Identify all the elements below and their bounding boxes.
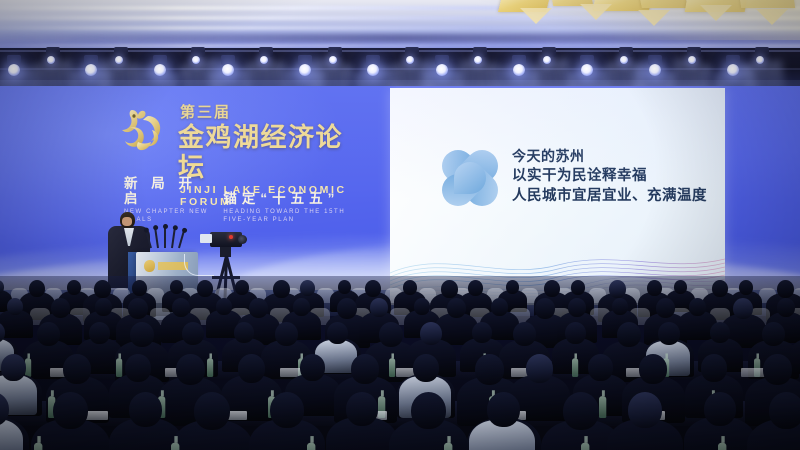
audience-person: [647, 280, 662, 296]
forum-edition-label: 第三届: [180, 104, 368, 121]
conference-hall-scene: 第三届 金鸡湖经济论坛 JINJI LAKE ECONOMIC FORUM 新 …: [0, 0, 800, 450]
slide-line-3: 人民城市宜居宜业、充满温度: [512, 186, 712, 206]
speaker-face: [122, 217, 132, 226]
audience-person: [379, 322, 403, 347]
audience-person: [689, 298, 706, 316]
audience-person: [125, 354, 151, 382]
golden-rooster-logo-icon: [118, 106, 172, 162]
audience-person: [563, 392, 599, 430]
audience-person: [487, 392, 520, 427]
audience-person: [674, 280, 687, 294]
water-bottle: [171, 443, 179, 450]
slide-line-1: 今天的苏州: [512, 146, 712, 166]
audience-person: [617, 322, 641, 347]
audience-person: [441, 280, 458, 298]
audience-person: [658, 322, 680, 345]
audience-person: [544, 280, 560, 297]
stage-light-icon: [115, 56, 123, 64]
audience-person: [628, 392, 662, 428]
audience-person: [777, 298, 795, 317]
audience-person: [1, 354, 26, 381]
audience-person: [447, 298, 466, 318]
audience-person: [182, 322, 204, 345]
seated-audience: [0, 276, 800, 450]
audience-person: [51, 298, 70, 318]
microphone-cluster: [148, 226, 182, 248]
audience-person: [216, 298, 232, 315]
audience-person: [170, 280, 183, 294]
audience-person: [337, 298, 357, 319]
audience-person: [235, 280, 249, 295]
audience-person: [420, 322, 442, 345]
stage-light-icon: [727, 64, 739, 76]
presentation-slide: 今天的苏州 以实干为民诠释幸福 人民城市宜居宜业、充满温度: [390, 88, 725, 305]
camera-lens-icon: [238, 235, 247, 244]
audience-person: [67, 280, 81, 295]
audience-person: [338, 280, 351, 294]
audience-person: [414, 298, 430, 315]
audience-person: [270, 392, 304, 428]
water-bottle: [718, 443, 726, 450]
audience-person: [712, 280, 728, 297]
audience-person: [89, 322, 110, 344]
lighting-truss: [0, 48, 800, 90]
audience-person: [293, 298, 310, 316]
audience-person: [197, 280, 213, 297]
audience-person: [7, 298, 23, 315]
forum-logo-block: 第三届 金鸡湖经济论坛 JINJI LAKE ECONOMIC FORUM 新 …: [118, 104, 368, 212]
audience-person: [769, 392, 800, 429]
audience-person: [639, 354, 667, 384]
camera-cable: [184, 254, 214, 276]
audience-person: [656, 298, 675, 318]
audience-person: [403, 280, 417, 295]
audience-person: [710, 322, 730, 343]
audience-person: [238, 354, 265, 383]
audience-person: [273, 280, 290, 298]
water-bottle: [389, 358, 395, 377]
audience-person: [568, 298, 586, 317]
audience-person: [176, 354, 205, 385]
audience-person: [370, 298, 388, 317]
audience-person: [95, 298, 112, 316]
gold-ceiling-decor: [490, 0, 800, 34]
stage-light-icon: [329, 56, 337, 64]
water-bottle: [599, 396, 606, 418]
audience-person: [365, 280, 381, 297]
audience-person: [53, 392, 88, 429]
audience-person: [129, 392, 162, 427]
camera-rec-indicator-icon: [229, 235, 233, 239]
audience-person: [194, 392, 230, 430]
audience-person: [571, 280, 585, 295]
water-bottle: [207, 358, 213, 377]
audience-person: [733, 298, 753, 319]
audience-person: [535, 298, 555, 319]
audience-person: [588, 354, 613, 381]
audience-person: [506, 280, 519, 294]
stage-light-icon: [222, 64, 234, 76]
quatrefoil-flower-icon: [442, 150, 498, 206]
stage-light-icon: [436, 64, 448, 76]
water-bottle: [581, 443, 589, 450]
audience-person: [346, 392, 378, 426]
audience-person: [132, 280, 147, 296]
stage-light-icon: [154, 64, 166, 76]
audience-person: [763, 354, 792, 385]
audience-person: [701, 354, 727, 382]
audience-person: [762, 322, 785, 346]
audience-person: [472, 322, 492, 343]
audience-person: [351, 354, 379, 384]
audience-person: [609, 280, 626, 298]
stage-light-icon: [543, 56, 551, 64]
stage-light-icon: [513, 64, 525, 76]
podium-logo: [144, 260, 188, 272]
stage-light-icon: [299, 64, 311, 76]
audience-person: [777, 280, 794, 298]
stage-light-icon: [47, 56, 55, 64]
audience-person: [413, 354, 439, 382]
water-bottle: [116, 358, 122, 377]
audience-person: [411, 392, 446, 429]
stage-light-icon: [8, 64, 20, 76]
audience-person: [475, 354, 504, 385]
water-bottle: [572, 358, 578, 377]
audience-person: [300, 280, 315, 296]
name-card: [741, 368, 765, 377]
audience-person: [249, 298, 268, 318]
audience-person: [612, 298, 628, 315]
audience-person: [128, 298, 148, 319]
water-bottle: [444, 443, 452, 450]
audience-person: [526, 354, 553, 383]
stage-light-icon: [620, 56, 628, 64]
audience-person: [130, 322, 154, 347]
slogan-right-en: HEADING TOWARD THE 15TH FIVE-YEAR PLAN: [223, 208, 368, 224]
audience-person: [327, 322, 348, 344]
audience-person: [300, 354, 325, 381]
slide-line-2: 以实干为民诠释幸福: [512, 166, 712, 186]
audience-person: [37, 322, 60, 346]
audience-person: [63, 354, 91, 384]
audience-person: [275, 322, 298, 346]
audience-person: [491, 298, 508, 316]
slide-text-block: 今天的苏州 以实干为民诠释幸福 人民城市宜居宜业、充满温度: [512, 146, 712, 206]
audience-person: [739, 280, 753, 295]
slogan-left-cn: 新 局 开 启: [124, 176, 209, 206]
audience-person: [565, 322, 586, 344]
audience-person: [172, 298, 190, 317]
audience-person: [29, 280, 45, 297]
audience-person: [704, 392, 736, 426]
water-bottle: [307, 443, 315, 450]
audience-person: [94, 280, 111, 298]
slogan-right-cn: 锚定“十五五”: [223, 191, 368, 206]
audience-person: [468, 280, 483, 296]
water-bottle: [34, 443, 42, 450]
forum-name-cn: 金鸡湖经济论坛: [178, 122, 368, 182]
stage-light-icon: [406, 56, 414, 64]
audience-person: [234, 322, 254, 343]
camera-viewfinder: [200, 234, 212, 243]
audience-person: [513, 322, 536, 346]
